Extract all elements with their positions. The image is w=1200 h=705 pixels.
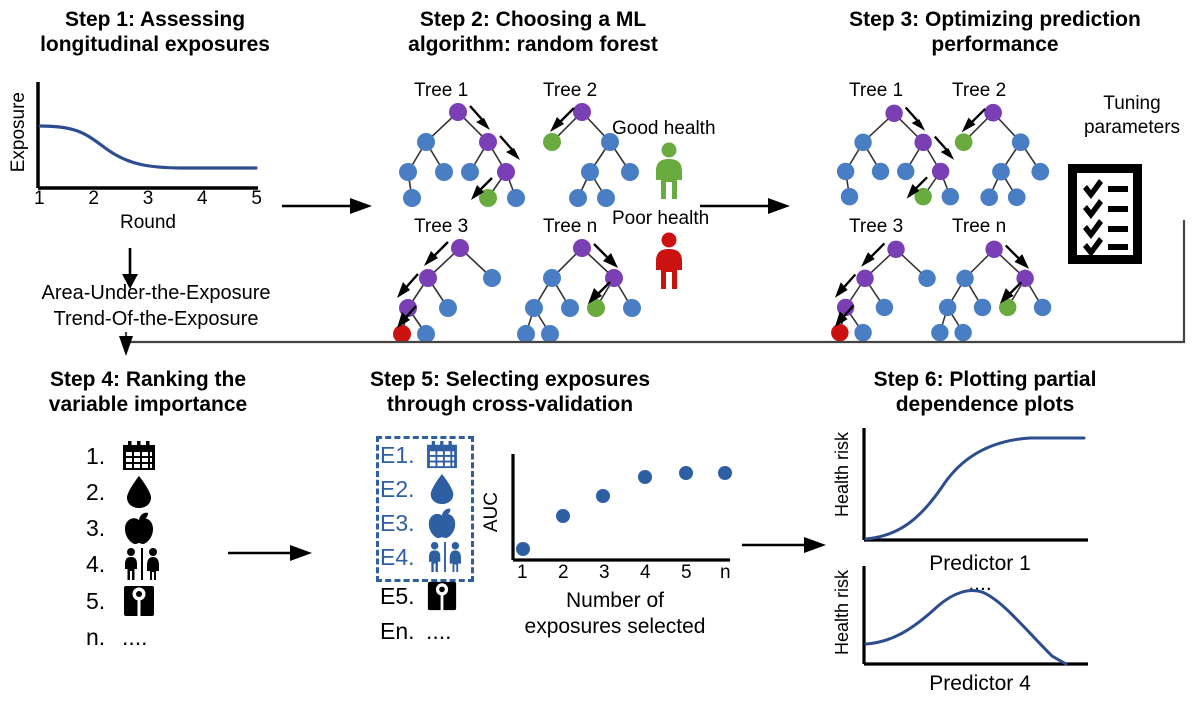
pdp2-plot [858, 566, 1090, 674]
exposure-label: E5. [380, 583, 426, 610]
step4-title: Step 4: Ranking the variable importance [8, 368, 288, 418]
arrow-step5-to-step6 [742, 534, 828, 556]
list-item: E5. [380, 578, 464, 614]
step3-title-line2: performance [800, 33, 1190, 58]
step3-tree-2 [942, 100, 1058, 208]
step4-ranking-list: 1. 2. 3. 4. 5. [86, 438, 162, 654]
list-item: En. .... [380, 614, 464, 648]
auc-xtick-5: 5 [681, 562, 692, 584]
exposure-label: E3. [380, 510, 426, 537]
pdp2-x-axis-label: Predictor 4 [880, 672, 1080, 696]
step1-exposure-chart: Exposure 1 2 3 4 5 Round [8, 78, 268, 206]
exposure-label: En. [380, 618, 426, 645]
apple-icon [122, 511, 156, 545]
step1-xtick-5: 5 [251, 188, 262, 210]
step2-title-line2: algorithm: random forest [378, 33, 688, 58]
step3-tree1-label: Tree 1 [849, 80, 903, 102]
weight-scale-icon [426, 580, 458, 612]
arrow-step4-to-step5 [228, 542, 314, 564]
auc-x-axis-label: Number of exposures selected [470, 588, 760, 641]
step5-title-line2: through cross-validation [330, 393, 690, 418]
step1-xtick-3: 3 [143, 188, 154, 210]
step3-title-line1: Step 3: Optimizing prediction [800, 8, 1190, 33]
step2-title-line1: Step 2: Choosing a ML [378, 8, 688, 33]
step1-title-line1: Step 1: Assessing [10, 8, 300, 33]
exposure-label: E4. [380, 544, 426, 571]
step6-title-line2: dependence plots [820, 393, 1150, 418]
list-item: n. .... [86, 620, 162, 654]
rank-number: 2. [86, 479, 122, 506]
water-drop-icon [122, 475, 156, 509]
step2-tree2-label: Tree 2 [543, 80, 597, 102]
list-item: 3. [86, 510, 162, 546]
step3-tree2-label: Tree 2 [952, 80, 1006, 102]
auc-y-axis-label: AUC [481, 492, 503, 532]
tuning-label-line1: Tuning [1070, 92, 1194, 116]
calendar-icon [122, 441, 156, 471]
auc-scatter-plot [505, 452, 735, 570]
rank-number: 3. [86, 515, 122, 542]
step4-title-line1: Step 4: Ranking the [8, 368, 288, 393]
step6-title: Step 6: Plotting partial dependence plot… [820, 368, 1150, 418]
step3-title: Step 3: Optimizing prediction performanc… [800, 8, 1190, 58]
step4-title-line2: variable importance [8, 393, 288, 418]
step2-tree1-label: Tree 1 [414, 80, 468, 102]
restroom-people-icon [426, 541, 464, 573]
weight-scale-icon [122, 584, 156, 618]
step1-xtick-1: 1 [34, 188, 45, 210]
list-item: 1. [86, 438, 162, 474]
tuning-label-line2: parameters [1070, 116, 1194, 140]
step1-xtick-4: 4 [197, 188, 208, 210]
good-health-person-icon [653, 142, 685, 200]
ellipsis-text: .... [122, 624, 148, 651]
pdp1-y-axis-label: Health risk [832, 432, 853, 517]
step2-good-health-label: Good health [612, 118, 716, 140]
ellipsis-text: .... [426, 618, 452, 645]
list-item: E4. [380, 540, 464, 574]
restroom-people-icon [122, 547, 162, 581]
auc-xlabel-line1: Number of [470, 588, 760, 614]
step2-tree-2 [530, 100, 648, 208]
connector-step3-to-step4 [118, 218, 1186, 358]
step5-title: Step 5: Selecting exposures through cros… [330, 368, 690, 418]
arrow-step1-to-step2 [282, 195, 374, 217]
rank-number: 1. [86, 443, 122, 470]
calendar-icon [426, 441, 458, 469]
rank-number: 4. [86, 551, 122, 578]
pdp1-plot [858, 428, 1090, 550]
step5-title-line1: Step 5: Selecting exposures [330, 368, 690, 393]
auc-xtick-1: 1 [517, 562, 528, 584]
arrow-step2-to-step3 [700, 195, 792, 217]
step1-y-axis-label: Exposure [8, 92, 30, 172]
rank-number: n. [86, 624, 122, 651]
step1-chart-svg [8, 78, 268, 206]
step2-title: Step 2: Choosing a ML algorithm: random … [378, 8, 688, 58]
exposure-label: E2. [380, 476, 426, 503]
auc-xtick-2: 2 [558, 562, 569, 584]
list-item: 2. [86, 474, 162, 510]
exposure-label: E1. [380, 442, 426, 469]
step1-xtick-2: 2 [88, 188, 99, 210]
auc-xtick-n: n [720, 562, 731, 584]
step6-title-line1: Step 6: Plotting partial [820, 368, 1150, 393]
rank-number: 5. [86, 588, 122, 615]
step1-title: Step 1: Assessing longitudinal exposures [10, 8, 300, 58]
list-item: E2. [380, 472, 464, 506]
pdp2-y-axis-label: Health risk [832, 570, 853, 655]
auc-xlabel-line2: exposures selected [470, 614, 760, 640]
list-item: E3. [380, 506, 464, 540]
list-item: 5. [86, 582, 162, 620]
step2-tree-1 [396, 100, 526, 208]
step5-exposure-list: E1. E2. E3. E4. E5. [380, 438, 464, 648]
water-drop-icon [426, 473, 458, 505]
auc-xtick-4: 4 [640, 562, 651, 584]
step3-tuning-label: Tuning parameters [1070, 92, 1194, 140]
list-item: 4. [86, 546, 162, 582]
step1-xticks: 1 2 3 4 5 [34, 188, 262, 210]
apple-icon [426, 507, 458, 539]
list-item: E1. [380, 438, 464, 472]
auc-xtick-3: 3 [599, 562, 610, 584]
step1-title-line2: longitudinal exposures [10, 33, 300, 58]
